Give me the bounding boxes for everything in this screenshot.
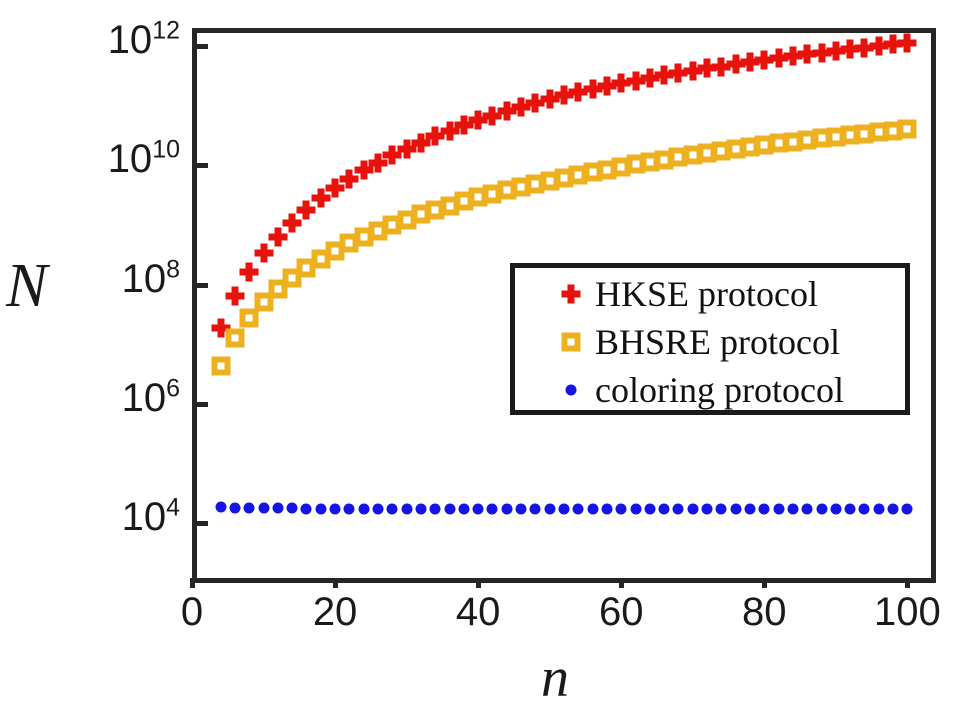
y-axis-title: N	[6, 255, 47, 317]
x-tick-mark	[905, 578, 910, 588]
figure-canvas: 10410610810101012 020406080100 N n HKSE …	[0, 0, 955, 727]
y-tick-label: 1010	[0, 139, 180, 179]
x-tick-mark	[476, 578, 481, 588]
legend-label-coloring: coloring protocol	[595, 372, 844, 408]
y-tick-label: 104	[0, 497, 180, 537]
y-tick-mark	[192, 163, 208, 168]
x-tick-mark	[762, 578, 767, 588]
x-tick-label: 80	[742, 592, 787, 632]
y-tick-mark	[192, 44, 208, 49]
x-axis-title: n	[541, 650, 569, 706]
x-tick-label: 100	[874, 592, 941, 632]
legend-entry-hkse[interactable]: HKSE protocol	[515, 270, 905, 318]
x-tick-label: 20	[313, 592, 358, 632]
y-tick-label: 106	[0, 378, 180, 418]
x-tick-label: 60	[599, 592, 644, 632]
x-tick-mark	[333, 578, 338, 588]
legend-marker-coloring	[515, 366, 595, 414]
legend-marker-bhsre	[515, 318, 595, 366]
plus-marker-icon	[562, 285, 581, 304]
legend-marker-hkse	[515, 270, 595, 318]
dot-marker-icon	[566, 385, 577, 396]
x-tick-label: 0	[181, 592, 203, 632]
x-tick-label: 40	[456, 592, 501, 632]
legend-entry-bhsre[interactable]: BHSRE protocol	[515, 318, 905, 366]
y-tick-label: 1012	[0, 20, 180, 60]
y-tick-mark	[192, 283, 208, 288]
x-tick-mark	[190, 578, 195, 588]
y-tick-mark	[192, 402, 208, 407]
x-tick-mark	[619, 578, 624, 588]
legend-label-bhsre: BHSRE protocol	[595, 324, 840, 360]
legend-label-hkse: HKSE protocol	[595, 276, 818, 312]
y-tick-mark	[192, 521, 208, 526]
legend-box[interactable]: HKSE protocol BHSRE protocol coloring pr…	[510, 263, 910, 415]
legend-entry-coloring[interactable]: coloring protocol	[515, 366, 905, 414]
open-square-marker-icon	[562, 333, 581, 352]
